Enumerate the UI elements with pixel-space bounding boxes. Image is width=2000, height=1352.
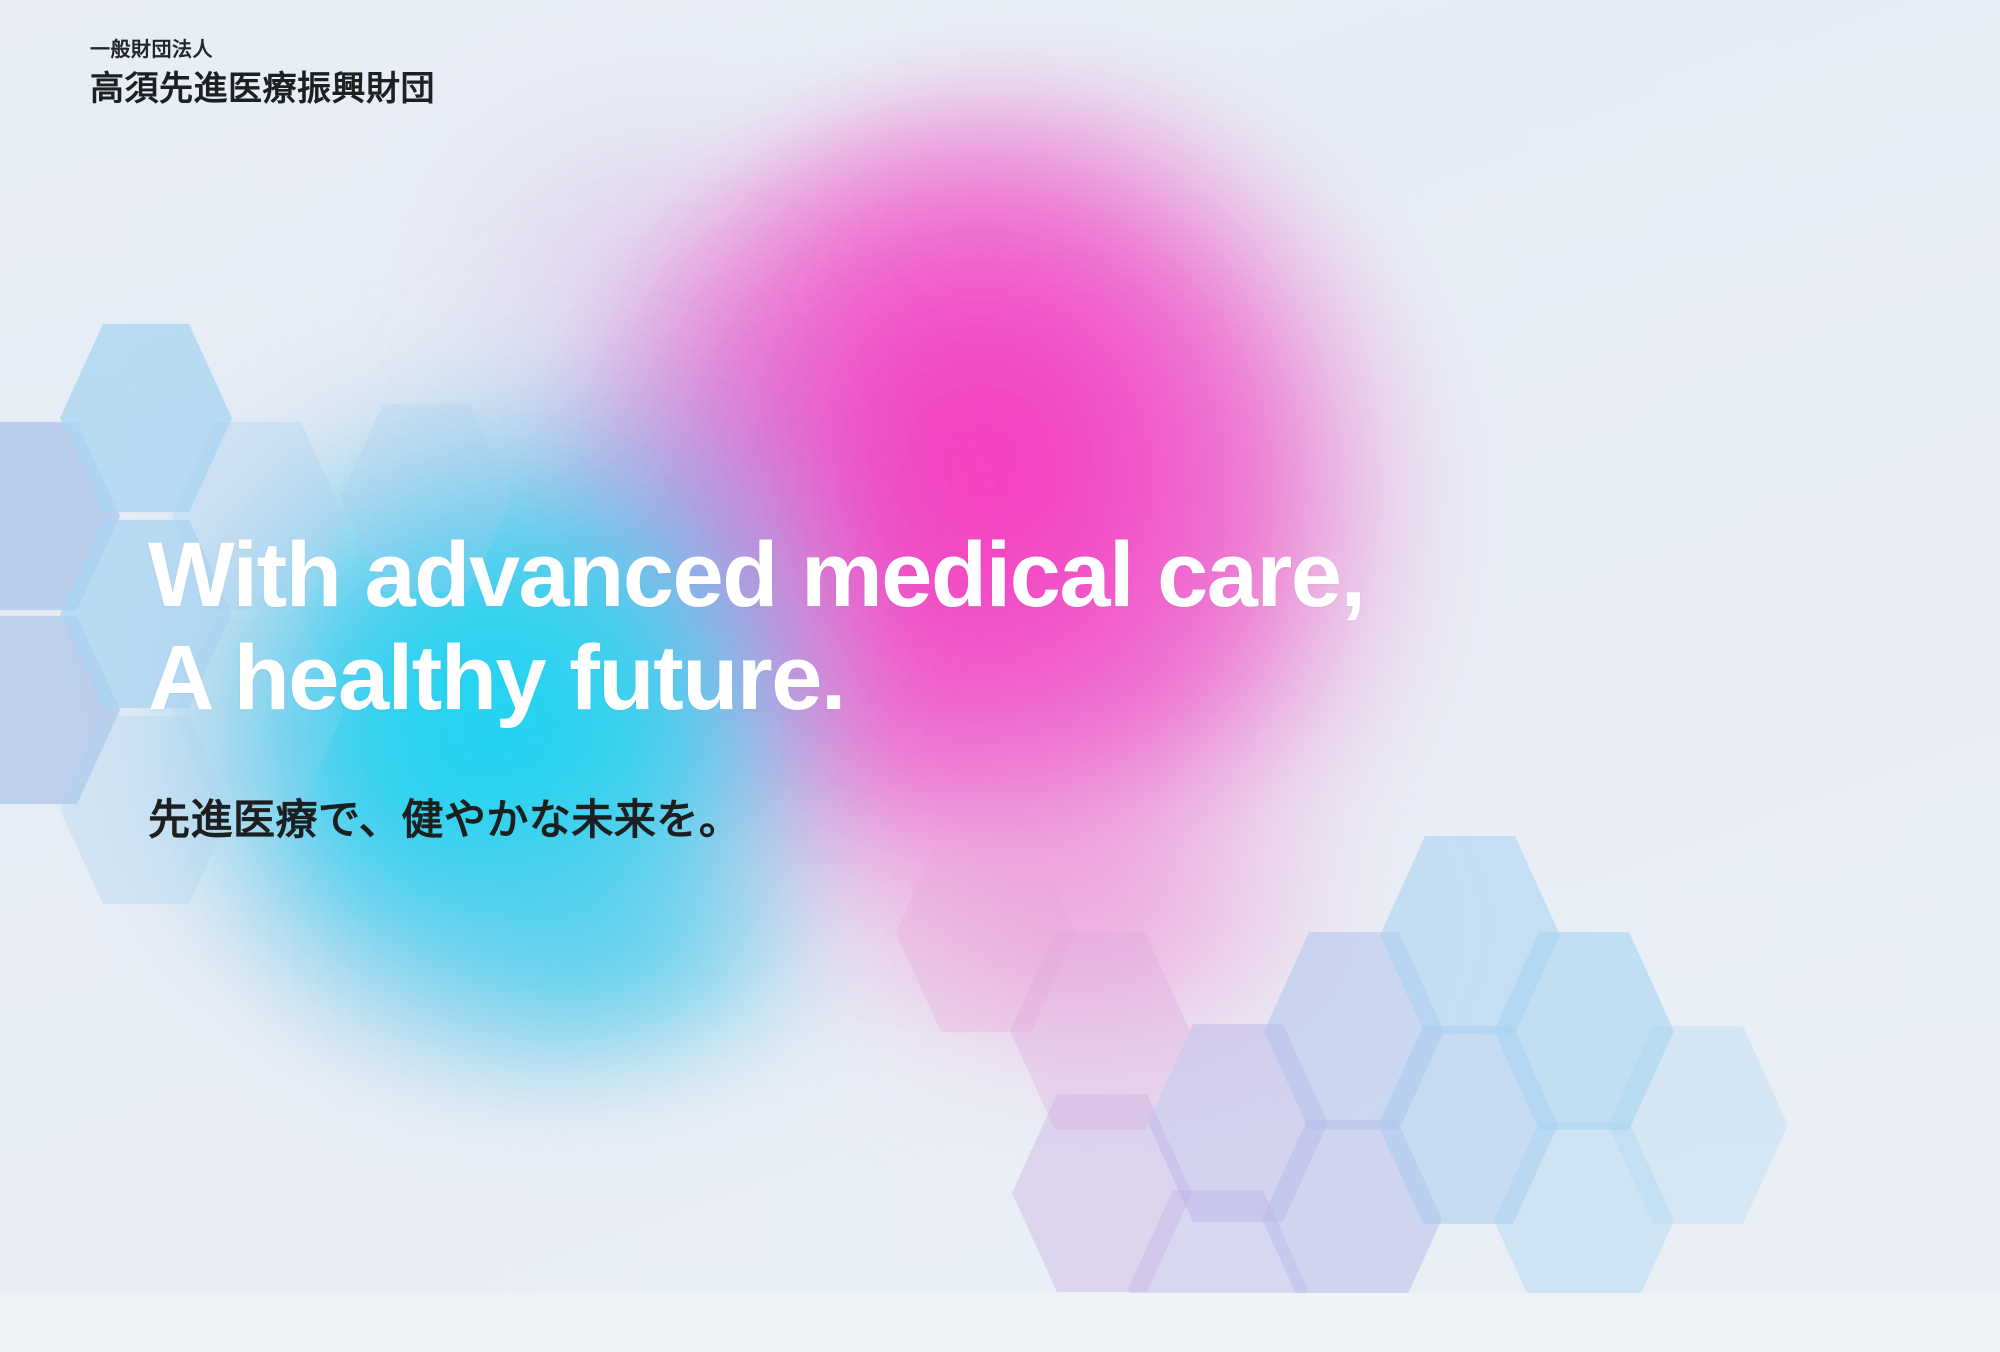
hero-subheadline: 先進医療で、健やかな未来を。 xyxy=(148,786,1365,847)
hero-section: 一般財団法人 高須先進医療振興財団 With advanced medical … xyxy=(0,0,2000,1293)
footer-strip xyxy=(0,1293,2000,1352)
hero-page: 一般財団法人 高須先進医療振興財団 With advanced medical … xyxy=(0,0,2000,1352)
logo-organization-name: 高須先進医療振興財団 xyxy=(90,68,435,111)
logo-lockup[interactable]: 一般財団法人 高須先進医療振興財団 xyxy=(90,38,435,111)
hero-headline-line-2: A healthy future. xyxy=(148,627,1365,730)
hero-copy: With advanced medical care, A healthy fu… xyxy=(148,524,1365,847)
hero-headline: With advanced medical care, A healthy fu… xyxy=(148,524,1365,730)
logo-kicker: 一般財団法人 xyxy=(90,38,435,62)
hero-headline-line-1: With advanced medical care, xyxy=(148,524,1365,627)
